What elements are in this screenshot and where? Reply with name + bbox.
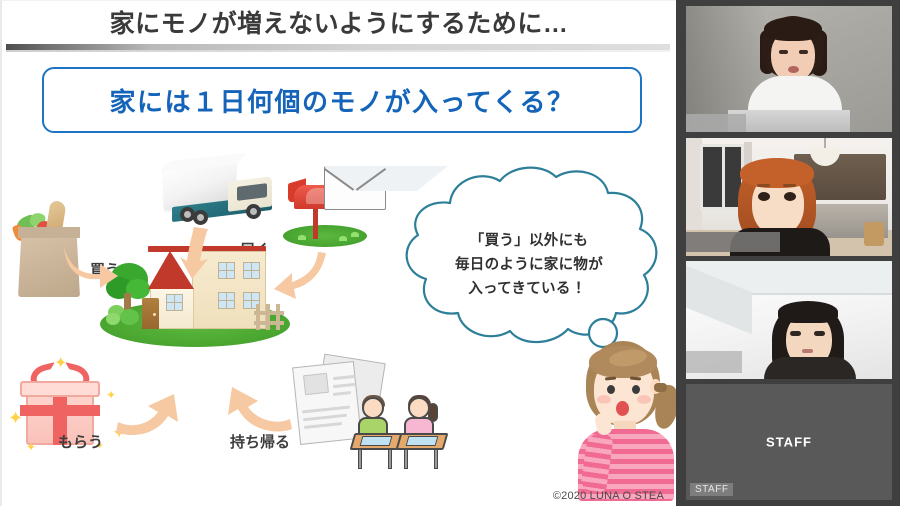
arrow-gift-to-house (114, 386, 184, 438)
copyright-notice: ©2020 LUNA O STEA (553, 490, 664, 502)
sparkle-icon: ✦ (26, 441, 36, 453)
thought-bubble: 「買う」以外にも 毎日のように家に物が 入ってきている ！ (380, 161, 670, 371)
bangs (778, 301, 838, 323)
video-tile-participant-2[interactable] (686, 138, 892, 256)
bubble-line-3: 入ってきている ！ (424, 277, 634, 301)
blurred-name-label (686, 232, 780, 252)
mouth (788, 66, 799, 73)
mouth (802, 349, 813, 353)
envelope-icon (324, 166, 386, 210)
meeting-screen-share-view: 家にモノが増えないようにするために… 家には１日何個のモノが入ってくる？ 買う (0, 0, 900, 506)
dark-top (764, 357, 856, 379)
bubble-line-1: 「買う」以外にも (424, 229, 634, 253)
video-tile-participant-3[interactable] (686, 261, 892, 379)
eye-left (758, 192, 770, 201)
thought-bubble-text: 「買う」以外にも 毎日のように家に物が 入ってきている ！ (424, 229, 634, 301)
eye-right (814, 331, 825, 336)
video-tile-participant-4[interactable]: STAFF STAFF (686, 384, 892, 500)
slide-title: 家にモノが増えないようにするために… (2, 7, 676, 41)
video-tile-participant-1[interactable] (686, 6, 892, 132)
thinking-woman-illustration (570, 341, 676, 501)
participant-video-strip: STAFF STAFF (676, 0, 900, 506)
shared-slide[interactable]: 家にモノが増えないようにするために… 家には１日何個のモノが入ってくる？ 買う (0, 0, 676, 506)
eye-left (779, 50, 788, 54)
participant-name-badge: STAFF (690, 483, 733, 496)
eye-right (799, 50, 808, 54)
eye-left (790, 331, 801, 336)
bubble-line-2: 毎日のように家に物が (424, 253, 634, 277)
wooden-stool (864, 222, 884, 246)
eyebrow-right (783, 184, 796, 187)
laptop-screen (728, 110, 850, 132)
delivery-truck-icon (164, 155, 284, 231)
title-divider-shadow (6, 50, 670, 52)
arrow-truck-to-house (180, 225, 216, 281)
arrow-buy-to-house (60, 241, 122, 293)
sparkle-icon: ✦ (54, 356, 67, 372)
eyebrow-left (757, 184, 770, 187)
label-receive: もらう (58, 431, 103, 452)
question-callout-box: 家には１日何個のモノが入ってくる？ (42, 67, 642, 133)
eye-right (784, 192, 796, 201)
arrow-mail-to-house (272, 251, 330, 303)
blurred-name-label (686, 114, 746, 132)
flow-diagram: 買う 届く (2, 141, 676, 506)
bangs (740, 158, 814, 188)
question-text: 家には１日何個のモノが入ってくる？ (110, 82, 575, 119)
arrow-bring-home-to-house (220, 381, 294, 435)
participant-display-name: STAFF (686, 435, 892, 450)
blurred-name-label (686, 351, 742, 373)
sparkle-icon: ✦ (8, 409, 23, 427)
students-at-desks-icon (352, 389, 452, 477)
bangs (764, 17, 822, 41)
